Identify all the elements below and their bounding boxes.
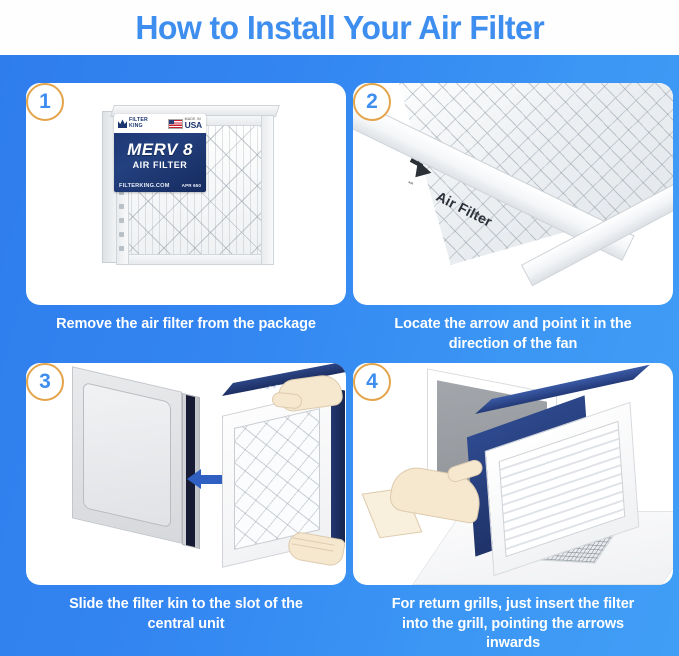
label-footer-band: FILTERKING.COM APR 650 bbox=[114, 183, 206, 189]
return-grill-illustration bbox=[353, 363, 673, 585]
filter-mesh-pattern bbox=[234, 408, 320, 550]
filter-corner-image: AIR Air Filter AIRFLOW bbox=[353, 83, 673, 305]
step-number-badge-4: 4 bbox=[353, 363, 391, 401]
step-panel-1: FILTER KING MADE IN USA bbox=[14, 73, 346, 353]
step-2-caption: Locate the arrow and point it in the dir… bbox=[353, 315, 673, 354]
step-number-4: 4 bbox=[366, 370, 378, 394]
step-2-caption-line-1: Locate the arrow and point it in the bbox=[394, 316, 631, 332]
filter-king-logo: FILTER KING bbox=[118, 118, 148, 129]
step-4-caption: For return grills, just insert the filte… bbox=[353, 595, 673, 654]
country-label: USA bbox=[185, 121, 202, 130]
filter-frame-bottom bbox=[117, 254, 273, 264]
page-title: How to Install Your Air Filter bbox=[135, 11, 544, 44]
step-1-caption: Remove the air filter from the package bbox=[26, 315, 346, 335]
brand-name: FILTER KING bbox=[129, 118, 148, 129]
filter-clip-icon bbox=[119, 232, 124, 237]
air-filter-product-image: FILTER KING MADE IN USA bbox=[102, 105, 282, 270]
step-panel-3: ⯇⯇ 3 Slide the filter kin to the slot of… bbox=[14, 353, 346, 643]
step-4-caption-line-1: For return grills, just insert the filte… bbox=[392, 596, 634, 612]
step-2-image-card: AIR Air Filter AIRFLOW bbox=[353, 83, 673, 305]
product-type-label: AIR FILTER bbox=[114, 160, 206, 170]
step-panel-2: AIR Air Filter AIRFLOW 2 Locate the arro… bbox=[345, 73, 677, 353]
made-in-usa-text: MADE IN USA bbox=[185, 118, 202, 130]
apr-rating: APR 650 bbox=[182, 183, 201, 189]
usa-flag-icon bbox=[168, 119, 183, 129]
filter-product-label: FILTER KING MADE IN USA bbox=[114, 114, 206, 192]
step-4-caption-line-3: inwards bbox=[486, 635, 540, 651]
step-4-caption-line-2: into the grill, pointing the arrows bbox=[402, 616, 624, 632]
step-3-caption: Slide the filter kin to the slot of the … bbox=[26, 595, 346, 634]
step-panel-4: 4 For return grills, just insert the fil… bbox=[345, 353, 677, 643]
made-in-usa-badge: MADE IN USA bbox=[168, 118, 202, 130]
merv-rating: MERV 8 bbox=[114, 140, 206, 160]
step-number-badge-1: 1 bbox=[26, 83, 64, 121]
title-bar: How to Install Your Air Filter bbox=[0, 0, 679, 55]
slide-into-slot-illustration: ⯇⯇ bbox=[26, 363, 346, 585]
step-3-caption-line-2: central unit bbox=[148, 616, 225, 632]
step-1-caption-line-1: Remove the air filter from the package bbox=[56, 316, 316, 332]
step-number-1: 1 bbox=[39, 90, 51, 114]
filter-clip-icon bbox=[119, 204, 124, 209]
website-url: FILTERKING.COM bbox=[119, 183, 170, 189]
central-unit-inner-panel bbox=[83, 382, 171, 528]
filter-frame-right bbox=[261, 116, 273, 264]
step-4-image-card bbox=[353, 363, 673, 585]
filter-blue-edge-right bbox=[331, 387, 345, 542]
infographic-page: How to Install Your Air Filter bbox=[0, 0, 679, 656]
step-3-image-card: ⯇⯇ bbox=[26, 363, 346, 585]
step-number-badge-2: 2 bbox=[353, 83, 391, 121]
crown-icon bbox=[118, 119, 127, 128]
step-number-3: 3 bbox=[39, 370, 51, 394]
filter-clip-icon bbox=[119, 246, 124, 251]
steps-grid: FILTER KING MADE IN USA bbox=[0, 55, 679, 656]
step-number-2: 2 bbox=[366, 90, 378, 114]
filter-clip-icon bbox=[119, 218, 124, 223]
step-3-caption-line-1: Slide the filter kin to the slot of the bbox=[69, 596, 303, 612]
label-header-band: FILTER KING MADE IN USA bbox=[114, 114, 206, 133]
central-unit-front bbox=[72, 366, 182, 543]
arrow-label: AIR bbox=[407, 180, 414, 186]
step-2-caption-line-2: direction of the fan bbox=[449, 336, 578, 352]
step-number-badge-3: 3 bbox=[26, 363, 64, 401]
brand-line-2: KING bbox=[129, 123, 143, 129]
step-1-image-card: FILTER KING MADE IN USA bbox=[26, 83, 346, 305]
